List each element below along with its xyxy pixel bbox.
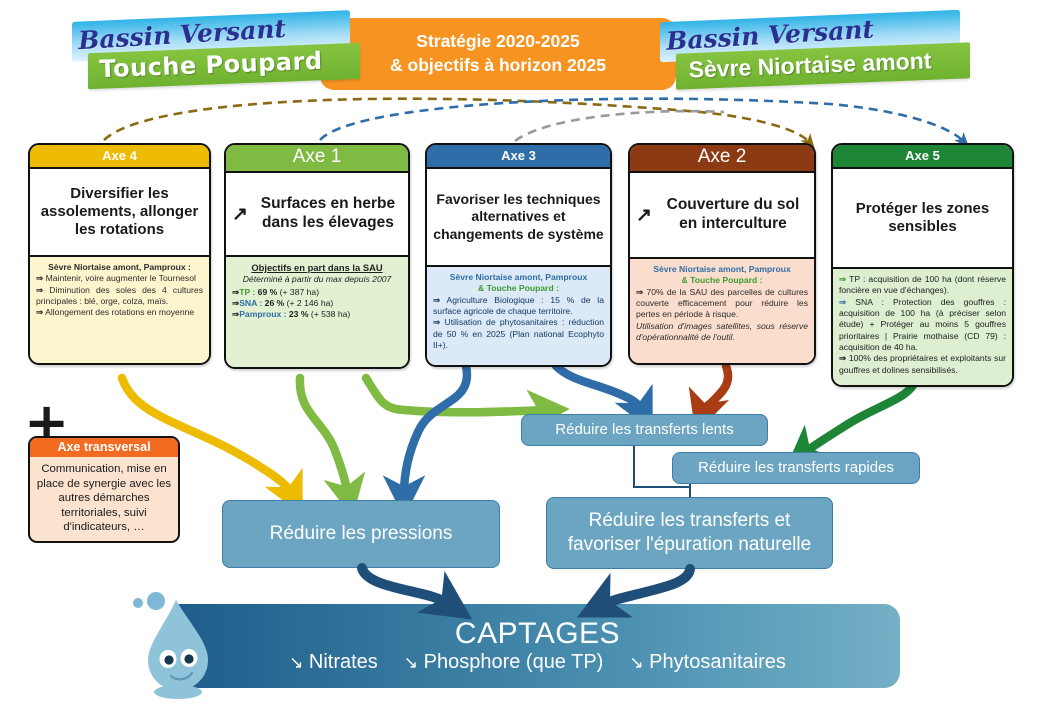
arrow-axe2-to-transferts-lents [703, 366, 728, 411]
card-axe-1-title-text: Surfaces en herbe dans les élevages [254, 195, 402, 233]
arrow-glyph-icon: ⇒ [839, 297, 846, 307]
axe-3-body-heading-1: Sèvre Niortaise amont, Pamproux [450, 272, 588, 282]
arrow-glyph-icon: ⇒ [839, 353, 846, 363]
captages-item-nitrates-label: Nitrates [309, 651, 378, 673]
dashed-arc-axe4-to-axe2 [104, 99, 810, 143]
card-axe-4-title: Diversifier les assolements, allonger le… [30, 169, 209, 255]
arrow-glyph-icon: ⇒ [433, 317, 440, 327]
axe-1-row-2-value: 26 % [265, 298, 285, 308]
axe-4-body-heading: Sèvre Niortaise amont, Pamproux : [48, 262, 191, 272]
card-axe-4-body: Sèvre Niortaise amont, Pamproux : ⇒ Main… [30, 255, 209, 363]
captages-title: CAPTAGES [455, 618, 620, 650]
flowbox-reduire-transferts-lents[interactable]: Réduire les transferts lents [521, 414, 768, 446]
card-axe-transversal-header: Axe transversal [30, 438, 178, 457]
up-right-arrow-icon: ↗ [636, 206, 652, 225]
axe-1-row-2-label: SNA [239, 298, 257, 308]
axe-1-row-1-label: TP [239, 287, 250, 297]
card-axe-2-title-text: Couverture du sol en interculture [658, 196, 808, 234]
axe-4-bullet-3: Allongement des rotations en moyenne [45, 307, 194, 317]
card-axe-2-title: ↗ Couverture du sol en interculture [630, 173, 814, 257]
dashed-arc-axe1-to-axe5 [320, 99, 964, 142]
down-right-arrow-icon: ↘ [289, 653, 303, 672]
arrow-axe1-to-pressions [300, 378, 348, 494]
axe-2-note: Utilisation d'images satellites, sous ré… [636, 321, 808, 342]
card-axe-1[interactable]: Axe 1 ↗ Surfaces en herbe dans les éleva… [224, 143, 410, 369]
card-axe-5-title: Protéger les zones sensibles [833, 169, 1012, 267]
axe-5-bullet-3: 100% des propriétaires et exploitants su… [839, 353, 1006, 374]
dashed-arc-axe3-to-axe2 [515, 111, 724, 141]
card-axe-1-body: Objectifs en part dans la SAU Déterminé … [226, 255, 408, 367]
axe-1-row-2-detail: (+ 2 146 ha) [287, 298, 334, 308]
axe-2-bullet-1: 70% de la SAU des parcelles de cultures … [636, 287, 808, 320]
flowbox-reduire-les-pressions[interactable]: Réduire les pressions [222, 500, 500, 568]
arrow-axe5-to-transferts-rapides [804, 378, 916, 453]
axe-1-row-3-detail: (+ 538 ha) [311, 309, 350, 319]
captages-item-phosphore: ↘ Phosphore (que TP) [404, 651, 604, 674]
axe-1-body-heading: Objectifs en part dans la SAU [251, 262, 382, 273]
arrow-glyph-icon: ⇒ [839, 274, 846, 284]
header-line-2: & objectifs à horizon 2025 [390, 54, 606, 78]
captages-item-phytosanitaires-label: Phytosanitaires [649, 651, 786, 673]
header-line-1: Stratégie 2020-2025 [416, 30, 579, 54]
axe-4-bullet-2: Diminution des soles des 4 cultures prin… [36, 285, 203, 306]
axe-3-bullet-1: Agriculture Biologique : 15 % de la surf… [433, 295, 604, 316]
water-droplet-mascot-icon [126, 592, 236, 704]
card-axe-3[interactable]: Axe 3 Favoriser les techniques alternati… [425, 143, 612, 367]
header-banner: Stratégie 2020-2025 & objectifs à horizo… [320, 18, 676, 90]
down-right-arrow-icon: ↘ [404, 653, 418, 672]
card-axe-2-header: Axe 2 [630, 145, 814, 173]
axe-1-row-3-value: 23 % [289, 309, 309, 319]
axe-1-row-3-label: Pamproux [239, 309, 281, 319]
arrow-glyph-icon: ⇒ [36, 273, 43, 283]
axe-1-row-1-detail: (+ 387 ha) [280, 287, 319, 297]
flowbox-reduire-transferts-epuration[interactable]: Réduire les transferts et favoriser l'ép… [546, 497, 833, 569]
card-axe-5-body: ⇒ TP : acquisition de 100 ha (dont réser… [833, 267, 1012, 385]
arrow-axe3-to-transferts-lents [556, 366, 642, 410]
card-axe-1-title: ↗ Surfaces en herbe dans les élevages [226, 173, 408, 255]
captages-item-phytosanitaires: ↘ Phytosanitaires [629, 651, 786, 674]
arrow-transferts-to-captages [602, 569, 690, 605]
card-axe-2-body: Sèvre Niortaise amont, Pamproux & Touche… [630, 257, 814, 363]
arrow-glyph-icon: ⇒ [433, 295, 440, 305]
axe-5-bullet-1: TP : acquisition de 100 ha (dont réserve… [839, 274, 1006, 295]
captages-banner: CAPTAGES ↘ Nitrates ↘ Phosphore (que TP)… [175, 604, 900, 688]
card-axe-4-header: Axe 4 [30, 145, 209, 169]
up-right-arrow-icon: ↗ [232, 205, 248, 224]
axe-2-body-heading-2: & Touche Poupard : [681, 275, 762, 285]
logo-touche-poupard: Bassin Versant Touche Poupard [72, 16, 350, 84]
axe-2-body-heading-1: Sèvre Niortaise amont, Pamproux [653, 264, 791, 274]
axe-4-bullet-1: Maintenir, voire augmenter le Tournesol [46, 273, 196, 283]
card-axe-transversal[interactable]: Axe transversal Communication, mise en p… [28, 436, 180, 543]
captages-item-phosphore-label: Phosphore (que TP) [424, 651, 604, 673]
card-axe-5-header: Axe 5 [833, 145, 1012, 169]
captages-item-nitrates: ↘ Nitrates [289, 651, 378, 674]
card-axe-2[interactable]: Axe 2 ↗ Couverture du sol en intercultur… [628, 143, 816, 365]
arrow-glyph-icon: ⇒ [36, 285, 43, 295]
arrow-pressions-to-captages [362, 568, 449, 604]
diagram-canvas: Stratégie 2020-2025 & objectifs à horizo… [0, 0, 1040, 720]
card-axe-3-header: Axe 3 [427, 145, 610, 169]
axe-5-bullet-2: SNA : Protection des gouffres : acquisit… [839, 297, 1006, 352]
card-axe-5[interactable]: Axe 5 Protéger les zones sensibles ⇒ TP … [831, 143, 1014, 387]
arrow-glyph-icon: ⇒ [636, 287, 643, 297]
axe-1-row-1-value: 69 % [258, 287, 278, 297]
card-axe-transversal-body: Communication, mise en place de synergie… [30, 457, 178, 541]
card-axe-4[interactable]: Axe 4 Diversifier les assolements, allon… [28, 143, 211, 365]
captages-items: ↘ Nitrates ↘ Phosphore (que TP) ↘ Phytos… [289, 651, 786, 674]
logo-sevre-niortaise-amont: Bassin Versant Sèvre Niortaise amont [660, 16, 960, 84]
down-right-arrow-icon: ↘ [629, 653, 643, 672]
axe-1-body-subheading: Déterminé à partir du max depuis 2007 [243, 274, 392, 284]
card-axe-3-body: Sèvre Niortaise amont, Pamproux & Touche… [427, 265, 610, 365]
card-axe-1-header: Axe 1 [226, 145, 408, 173]
card-axe-3-title: Favoriser les techniques alternatives et… [427, 169, 610, 265]
axe-3-body-heading-2: & Touche Poupard : [478, 283, 559, 293]
arrow-axe3-to-pressions [404, 366, 467, 494]
arrow-axe1-to-transferts-lents [366, 378, 546, 412]
flowbox-reduire-transferts-rapides[interactable]: Réduire les transferts rapides [672, 452, 920, 484]
axe-3-bullet-2: Utilisation de phytosanitaires : réducti… [433, 317, 604, 350]
arrow-glyph-icon: ⇒ [36, 307, 43, 317]
